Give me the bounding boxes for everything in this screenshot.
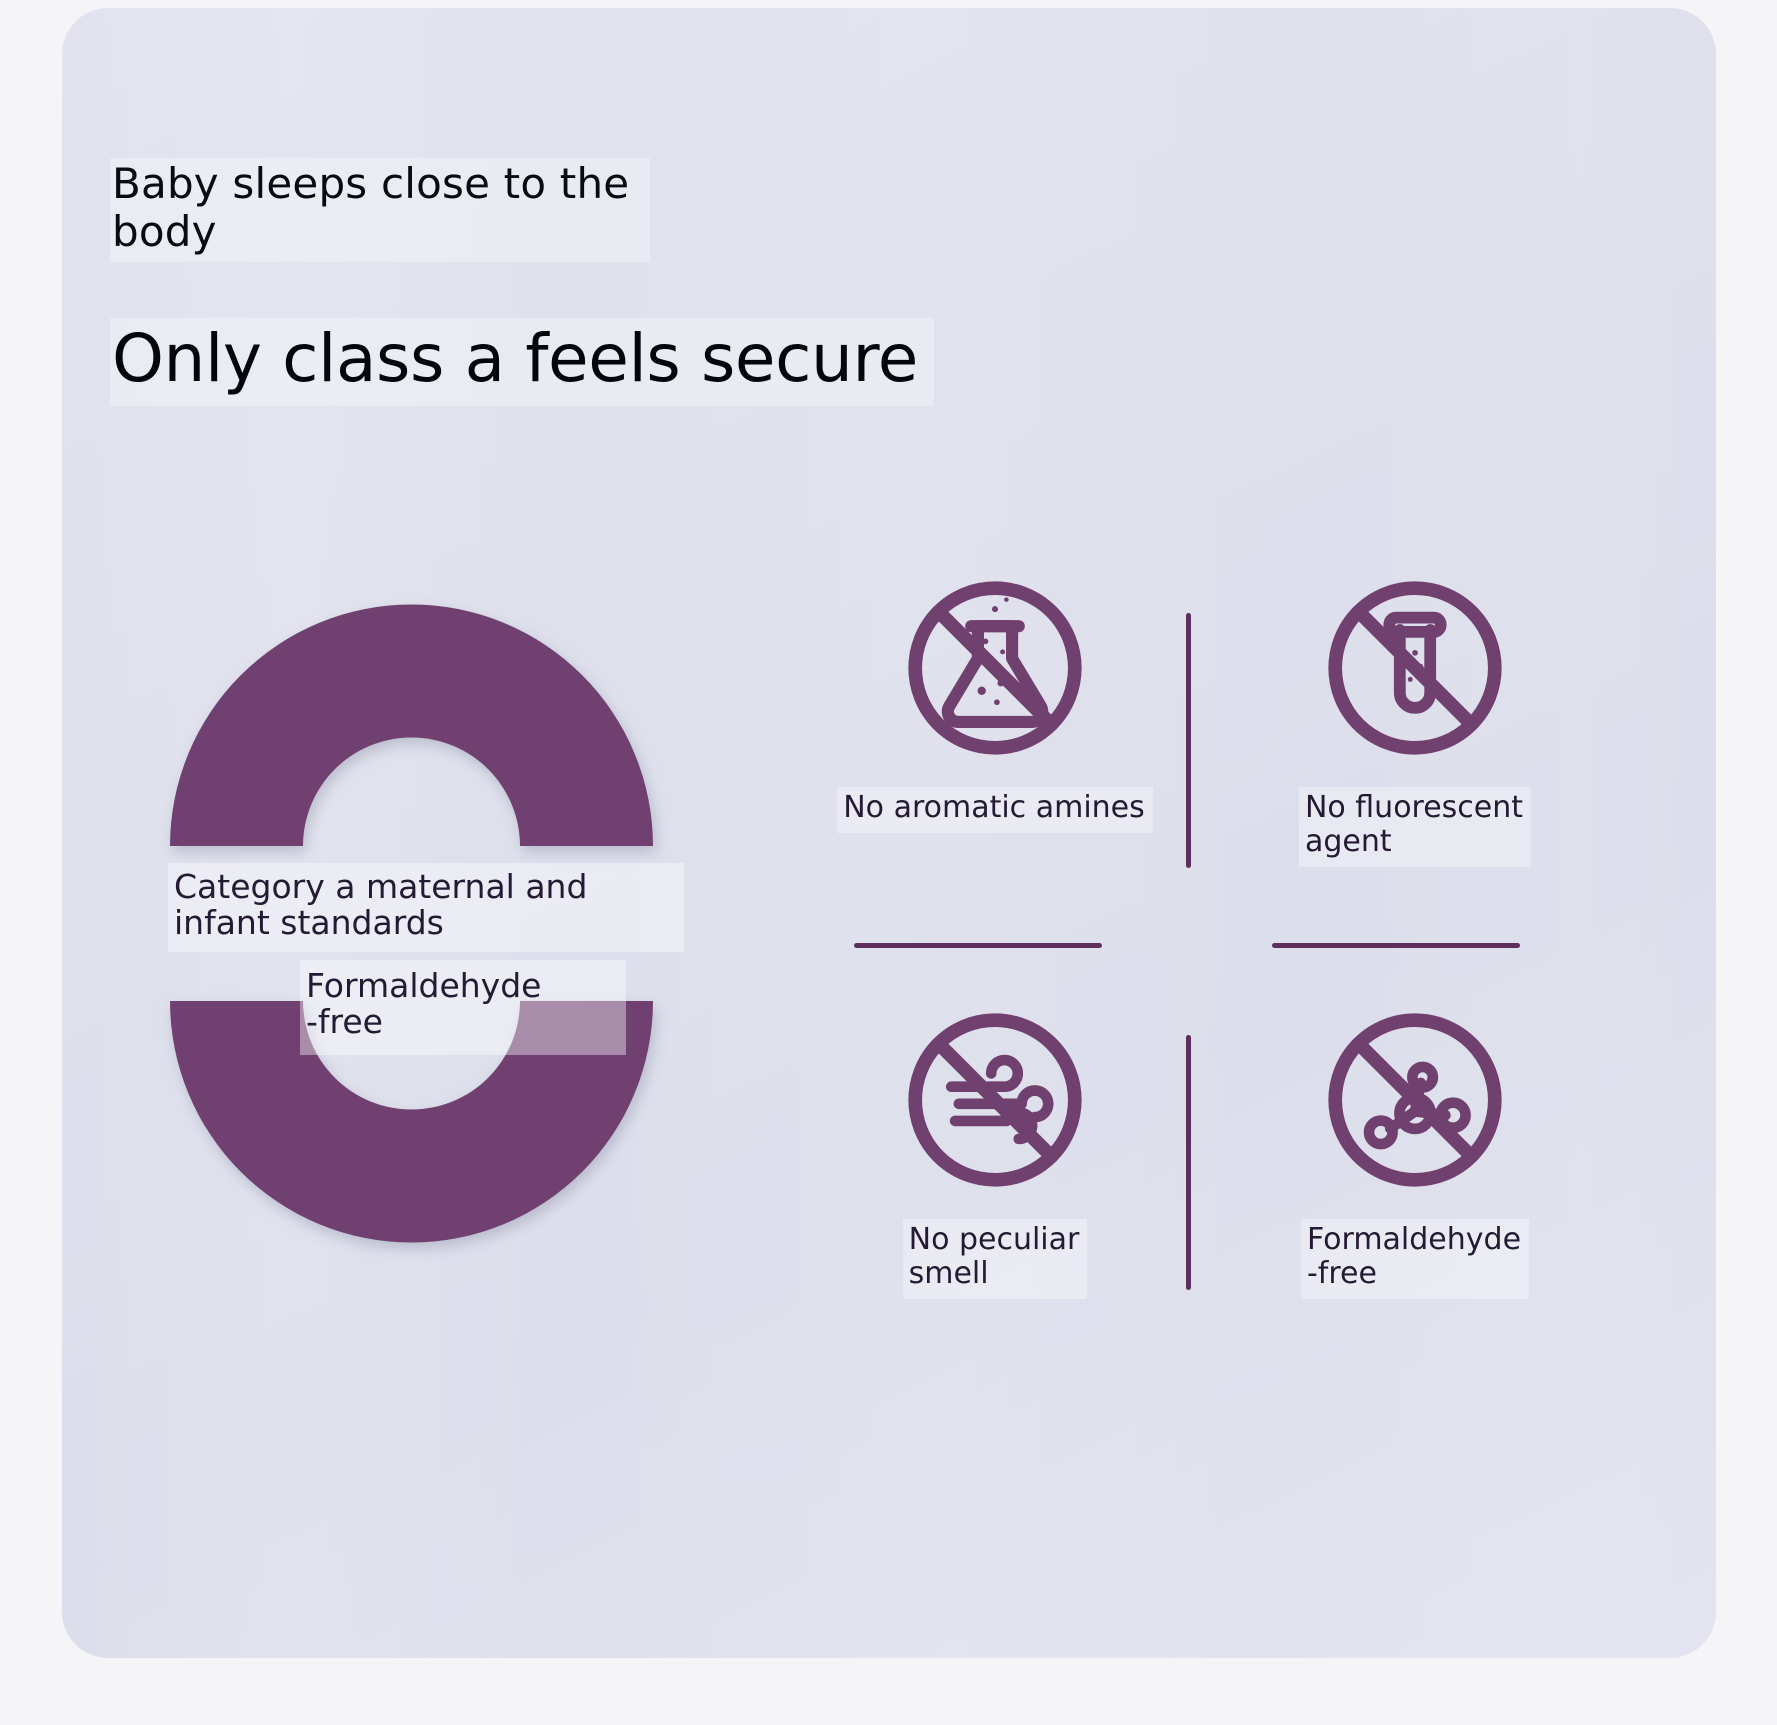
feature-label: Formaldehyde -free xyxy=(1301,1219,1529,1299)
divider-vertical-bottom xyxy=(1186,1035,1191,1290)
feature-item-no-peculiar-smell: No peculiar smell xyxy=(820,1005,1170,1350)
no-test-tube-icon xyxy=(1320,573,1510,763)
feature-item-no-fluorescent-agent: No fluorescent agent xyxy=(1240,573,1590,918)
feature-grid: No aromatic amines xyxy=(792,573,1582,1333)
feature-item-no-aromatic-amines: No aromatic amines xyxy=(820,573,1170,918)
product-feature-card: Baby sleeps close to the body Only class… xyxy=(62,8,1716,1658)
headline-block: Baby sleeps close to the body Only class… xyxy=(110,158,930,406)
divider-horizontal-right xyxy=(1272,943,1520,948)
feature-item-formaldehyde-free: Formaldehyde -free xyxy=(1240,1005,1590,1350)
no-wind-smell-icon xyxy=(900,1005,1090,1195)
no-flask-icon xyxy=(900,573,1090,763)
page-title: Only class a feels secure xyxy=(110,318,934,406)
feature-label: No aromatic amines xyxy=(837,787,1153,833)
divider-horizontal-left xyxy=(854,943,1102,948)
eyebrow-text: Baby sleeps close to the body xyxy=(110,158,650,262)
formaldehyde-free-caption-left: Formaldehyde -free xyxy=(300,960,626,1055)
category-standards-caption: Category a maternal and infant standards xyxy=(168,863,684,952)
divider-vertical-top xyxy=(1186,613,1191,868)
feature-label: No fluorescent agent xyxy=(1299,787,1531,867)
no-molecule-icon xyxy=(1320,1005,1510,1195)
feature-label: No peculiar smell xyxy=(903,1219,1088,1299)
